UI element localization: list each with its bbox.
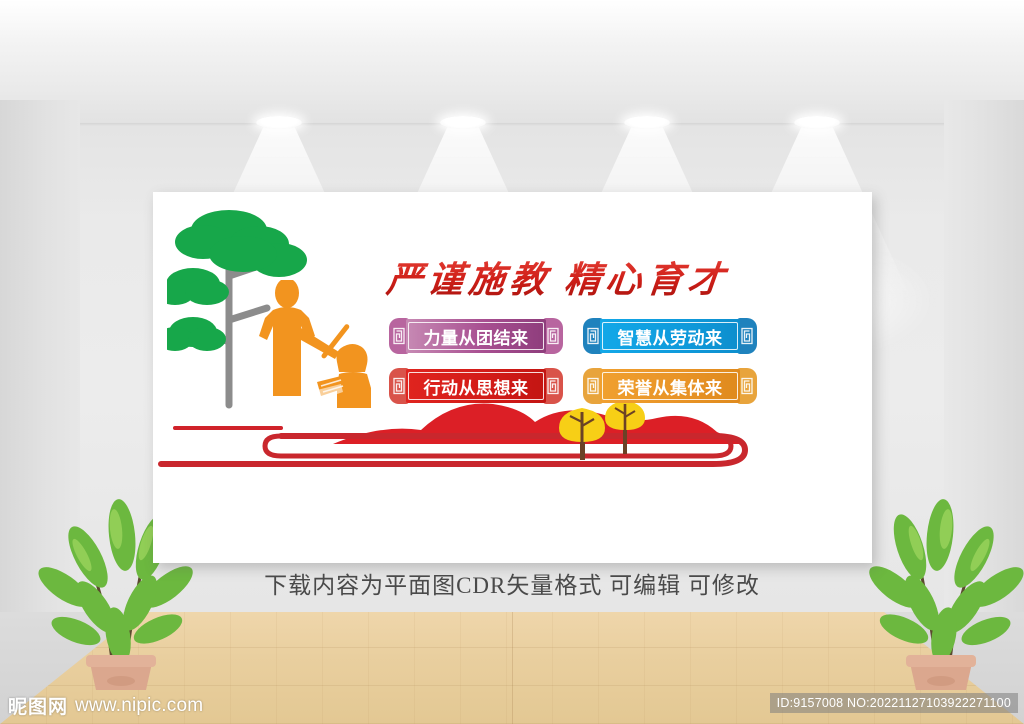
banner-label: 智慧从劳动来 — [618, 324, 723, 349]
banner-label: 行动从思想来 — [424, 374, 529, 399]
site-name-cn: 昵图网 — [8, 692, 68, 719]
meander-cap-right-icon — [737, 318, 757, 354]
page-title: 严谨施教 精心育才 — [375, 252, 740, 302]
site-watermark: 昵图网 www.nipic.com — [8, 692, 203, 719]
ceiling-lamp-4 — [794, 116, 840, 129]
ceiling-edge — [0, 123, 1024, 126]
meander-cap-right-icon — [543, 318, 563, 354]
banner-label: 力量从团结来 — [424, 324, 529, 349]
meander-pattern-icon — [740, 326, 754, 346]
ceiling-lamp-1 — [256, 116, 302, 129]
floor-seam — [512, 612, 513, 724]
meander-pattern-icon — [546, 376, 560, 396]
meander-pattern-icon — [392, 376, 406, 396]
site-url: www.nipic.com — [75, 695, 203, 717]
meander-pattern-icon — [392, 326, 406, 346]
meander-pattern-icon — [740, 376, 754, 396]
slogan-banner-group: 力量从团结来 — [389, 318, 757, 410]
meander-pattern-icon — [586, 326, 600, 346]
screenshot-root: 严谨施教 精心育才 — [0, 0, 1024, 724]
banner-body: 智慧从劳动来 — [600, 319, 740, 353]
download-caption: 下载内容为平面图CDR矢量格式 可编辑 可修改 — [0, 566, 1024, 600]
wall-art-panel: 严谨施教 精心育才 — [153, 192, 872, 563]
banner-labour[interactable]: 智慧从劳动来 — [583, 318, 757, 354]
wall-art-canvas: 严谨施教 精心育才 — [153, 192, 872, 563]
banner-body: 荣誉从集体来 — [600, 369, 740, 403]
meander-pattern-icon — [546, 326, 560, 346]
yellow-tree-1 — [559, 408, 605, 460]
asset-id-tag: ID:9157008 NO:20221127103922271100 — [770, 693, 1018, 713]
banner-unity[interactable]: 力量从团结来 — [389, 318, 563, 354]
meander-pattern-icon — [586, 376, 600, 396]
banner-label: 荣誉从集体来 — [618, 374, 723, 399]
banner-thought[interactable]: 行动从思想来 — [389, 368, 563, 404]
meander-cap-right-icon — [737, 368, 757, 404]
banner-body: 行动从思想来 — [406, 369, 546, 403]
banner-body: 力量从团结来 — [406, 319, 546, 353]
ceiling-lamp-2 — [440, 116, 486, 129]
ceiling-lamp-3 — [624, 116, 670, 129]
meander-cap-right-icon — [543, 368, 563, 404]
ceiling — [0, 0, 1024, 125]
banner-collective[interactable]: 荣誉从集体来 — [583, 368, 757, 404]
